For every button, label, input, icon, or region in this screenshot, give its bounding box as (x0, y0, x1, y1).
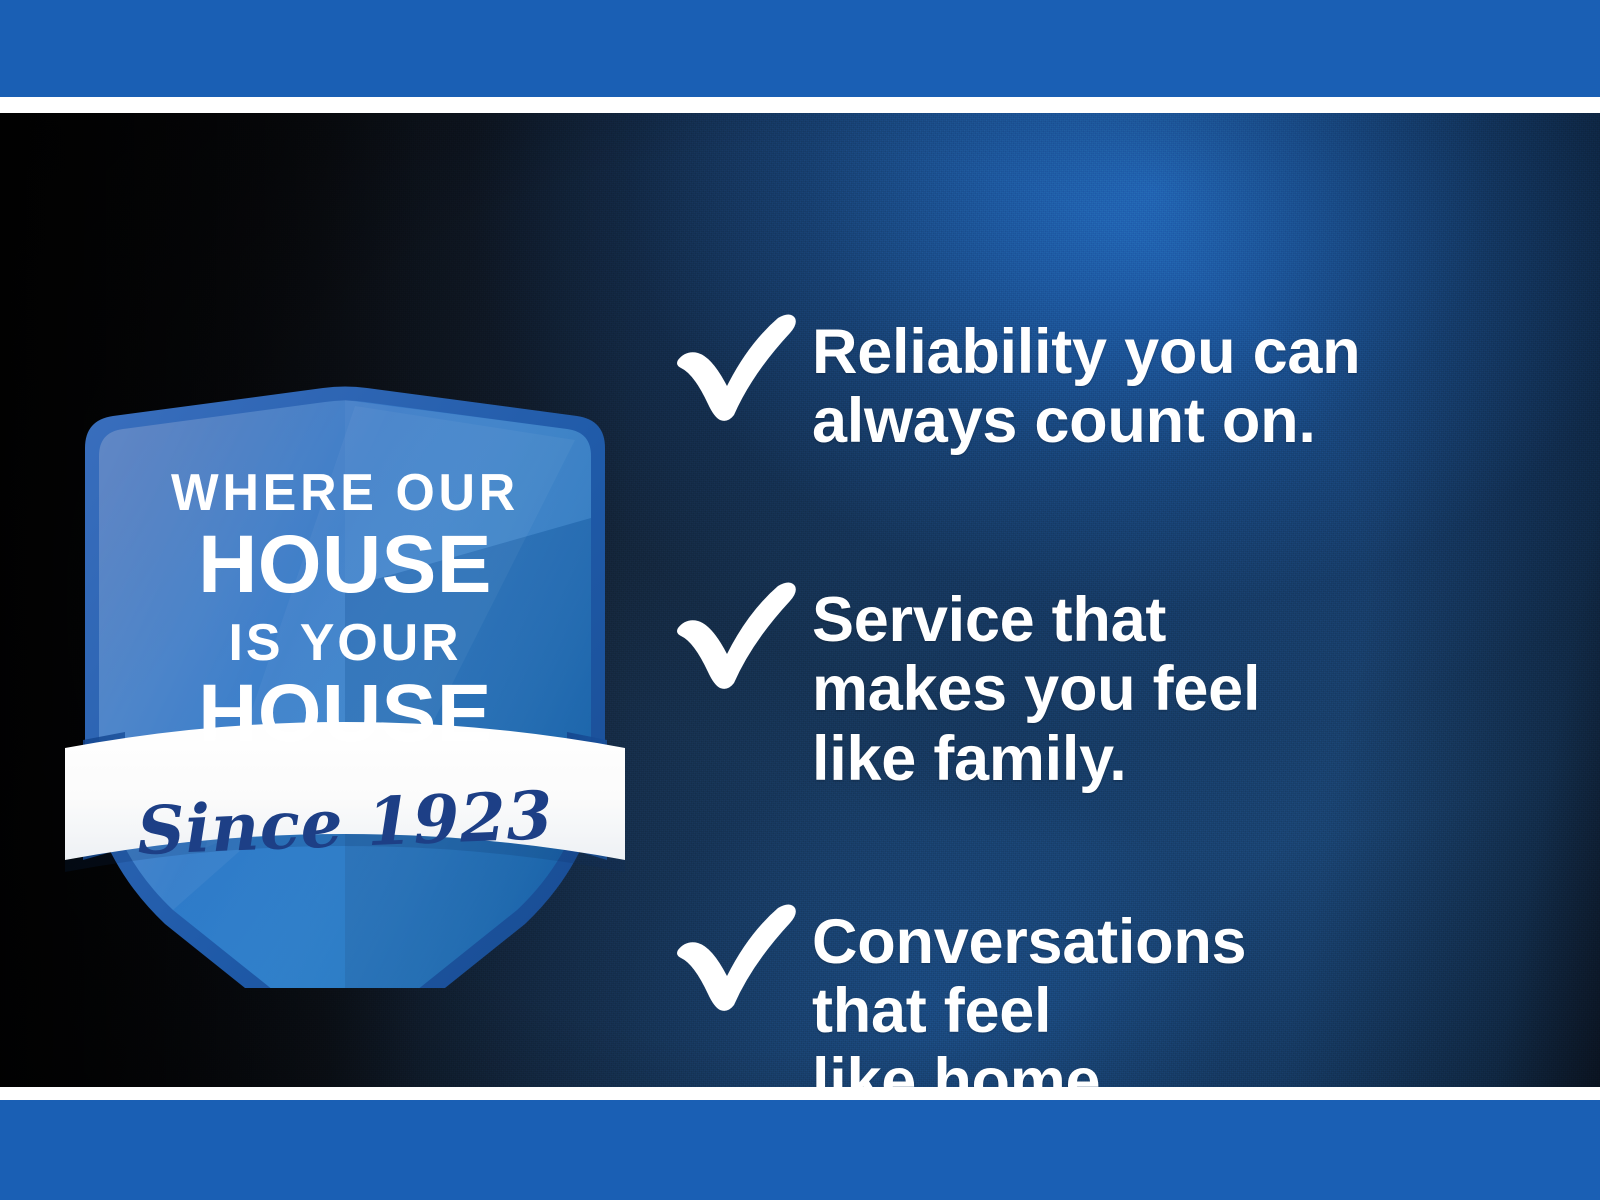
benefit-line: that feel (812, 977, 1530, 1046)
check-icon (670, 898, 800, 1013)
shield-icon (55, 288, 635, 988)
benefit-line: like family. (812, 725, 1530, 794)
benefit-line: Reliability you can (812, 318, 1530, 387)
benefit-line: makes you feel (812, 655, 1530, 724)
check-icon (670, 308, 800, 423)
benefit-line: Service that (812, 586, 1530, 655)
check-icon (670, 576, 800, 691)
bottom-brand-bar (0, 1100, 1600, 1200)
benefit-line: Conversations (812, 908, 1530, 977)
shield-emblem: Where Our House Is Your House Since 1923 (55, 288, 635, 988)
benefit-line: always count on. (812, 387, 1530, 456)
benefit-line: like home. (812, 1047, 1530, 1087)
benefit-text: Reliability you can always count on. (812, 308, 1530, 457)
benefit-item: Conversations that feel like home. (670, 898, 1530, 1087)
benefit-item: Reliability you can always count on. (670, 308, 1530, 457)
top-brand-bar (0, 0, 1600, 97)
benefit-text: Conversations that feel like home. (812, 898, 1530, 1087)
main-canvas: Where Our House Is Your House Since 1923… (0, 113, 1600, 1087)
benefit-text: Service that makes you feel like family. (812, 576, 1530, 794)
benefit-item: Service that makes you feel like family. (670, 576, 1530, 794)
promo-poster: Where Our House Is Your House Since 1923… (0, 0, 1600, 1200)
